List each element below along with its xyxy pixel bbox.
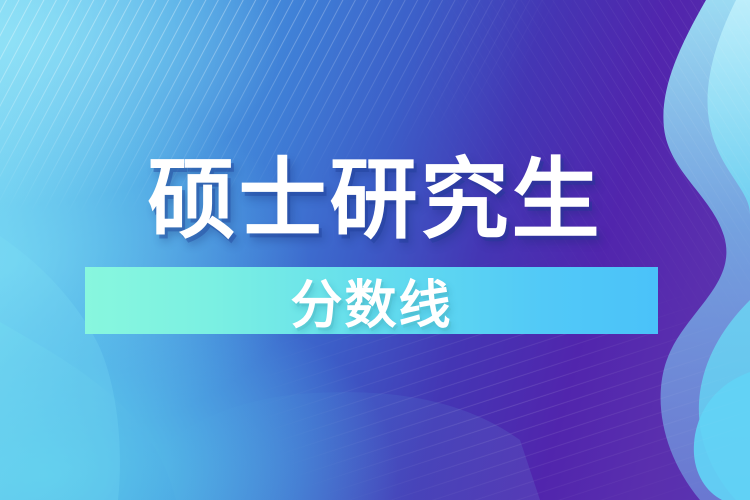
banner-sub-title: 分数线 — [85, 267, 658, 334]
promo-banner: 硕士研究生 分数线 — [0, 0, 750, 500]
banner-main-title: 硕士研究生 — [0, 152, 750, 248]
banner-content: 硕士研究生 分数线 — [0, 0, 750, 500]
